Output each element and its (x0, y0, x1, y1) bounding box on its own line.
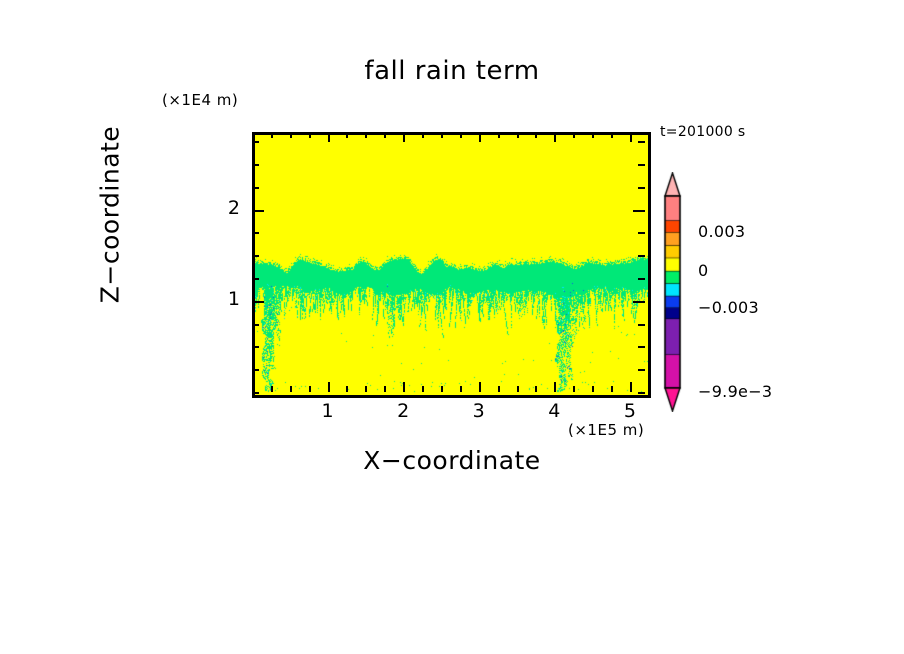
axis-tick (638, 369, 645, 371)
axis-tick (271, 386, 273, 392)
colorbar-tick-label: −9.9e−3 (698, 382, 772, 401)
axis-tick (441, 386, 443, 392)
axis-tick (638, 278, 645, 280)
axis-tick (460, 132, 462, 138)
y-tick-label: 2 (210, 197, 240, 219)
x-tick-label: 3 (464, 400, 494, 422)
axis-tick (498, 386, 500, 392)
axis-tick (638, 164, 645, 166)
axis-tick (611, 386, 613, 392)
axis-tick (403, 132, 405, 142)
axis-tick (638, 324, 645, 326)
axis-tick (633, 210, 645, 212)
axis-tick (479, 132, 481, 142)
axis-tick (638, 187, 645, 189)
axis-tick (638, 346, 645, 348)
axis-tick (252, 369, 259, 371)
x-tick-label: 5 (615, 400, 645, 422)
axis-tick (271, 132, 273, 138)
axis-tick (252, 141, 259, 143)
x-axis-units-label: (×1E5 m) (568, 421, 644, 439)
axis-tick (638, 392, 645, 394)
plot-area (252, 132, 651, 398)
axis-tick (535, 132, 537, 138)
y-axis-title: Z−coordinate (96, 85, 125, 345)
axis-tick (384, 132, 386, 138)
axis-tick (252, 346, 259, 348)
axis-tick (422, 132, 424, 138)
axis-tick (441, 132, 443, 138)
axis-tick (638, 255, 645, 257)
colorbar-tick-label: 0 (698, 261, 708, 280)
axis-tick (633, 301, 645, 303)
axis-tick (422, 386, 424, 392)
colorbar (660, 172, 686, 412)
axis-tick (630, 382, 632, 392)
colorbar-tick-label: −0.003 (698, 298, 759, 317)
axis-tick (252, 132, 254, 138)
x-axis-title: X−coordinate (0, 446, 904, 475)
heatmap-field (255, 135, 648, 395)
axis-tick (309, 132, 311, 138)
axis-tick (252, 324, 259, 326)
axis-tick (328, 132, 330, 142)
axis-tick (592, 132, 594, 138)
axis-tick (346, 132, 348, 138)
axis-tick (365, 386, 367, 392)
axis-tick (498, 132, 500, 138)
axis-tick (460, 386, 462, 392)
x-tick-label: 1 (313, 400, 343, 422)
x-tick-label: 4 (539, 400, 569, 422)
y-tick-label: 1 (210, 288, 240, 310)
axis-tick (328, 382, 330, 392)
axis-tick (252, 301, 264, 303)
time-annotation: t=201000 s (660, 124, 745, 140)
axis-tick (290, 132, 292, 138)
axis-tick (365, 132, 367, 138)
axis-tick (611, 132, 613, 138)
colorbar-gradient (660, 172, 686, 412)
axis-tick (479, 382, 481, 392)
axis-tick (290, 386, 292, 392)
axis-tick (252, 232, 259, 234)
axis-tick (573, 132, 575, 138)
x-tick-label: 2 (388, 400, 418, 422)
axis-tick (309, 386, 311, 392)
axis-tick (592, 386, 594, 392)
axis-tick (554, 382, 556, 392)
axis-tick (384, 386, 386, 392)
axis-tick (252, 164, 259, 166)
axis-tick (630, 132, 632, 142)
axis-tick (638, 232, 645, 234)
axis-tick (252, 392, 259, 394)
axis-tick (517, 132, 519, 138)
colorbar-tick-label: 0.003 (698, 222, 745, 241)
axis-tick (252, 278, 259, 280)
axis-tick (403, 382, 405, 392)
axis-tick (535, 386, 537, 392)
axis-tick (252, 187, 259, 189)
axis-tick (346, 386, 348, 392)
y-axis-units-label: (×1E4 m) (162, 91, 238, 109)
axis-tick (554, 132, 556, 142)
axis-tick (252, 255, 259, 257)
axis-tick (573, 386, 575, 392)
axis-tick (638, 141, 645, 143)
axis-tick (252, 210, 264, 212)
axis-tick (517, 386, 519, 392)
page-title: fall rain term (0, 56, 904, 86)
